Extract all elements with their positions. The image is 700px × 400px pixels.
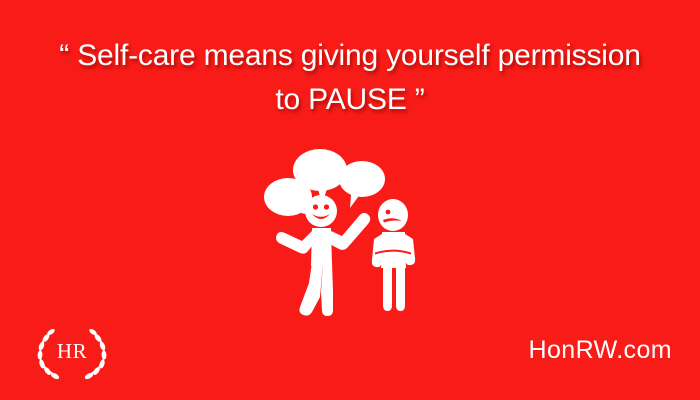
website-label: HonRW.com <box>529 334 672 366</box>
closing-quote-mark: ” <box>415 83 425 116</box>
quote-line-1-text: Self-care means giving yourself permissi… <box>77 39 641 72</box>
illustration-two-figures-speech-bubbles <box>262 142 452 322</box>
quote-card: “ Self-care means giving yourself permis… <box>0 0 700 400</box>
quote-line-1: “ Self-care means giving yourself permis… <box>24 34 676 78</box>
laurel-wreath-icon <box>26 320 118 382</box>
quote-line-2: to PAUSE ” <box>24 78 676 122</box>
opening-quote-mark: “ <box>59 39 69 72</box>
quote-block: “ Self-care means giving yourself permis… <box>0 34 700 122</box>
listening-figure <box>372 199 415 311</box>
quote-line-2-text: to PAUSE <box>275 83 406 116</box>
hr-logo: HR <box>26 320 118 382</box>
speech-bubble-right-icon <box>339 161 385 208</box>
